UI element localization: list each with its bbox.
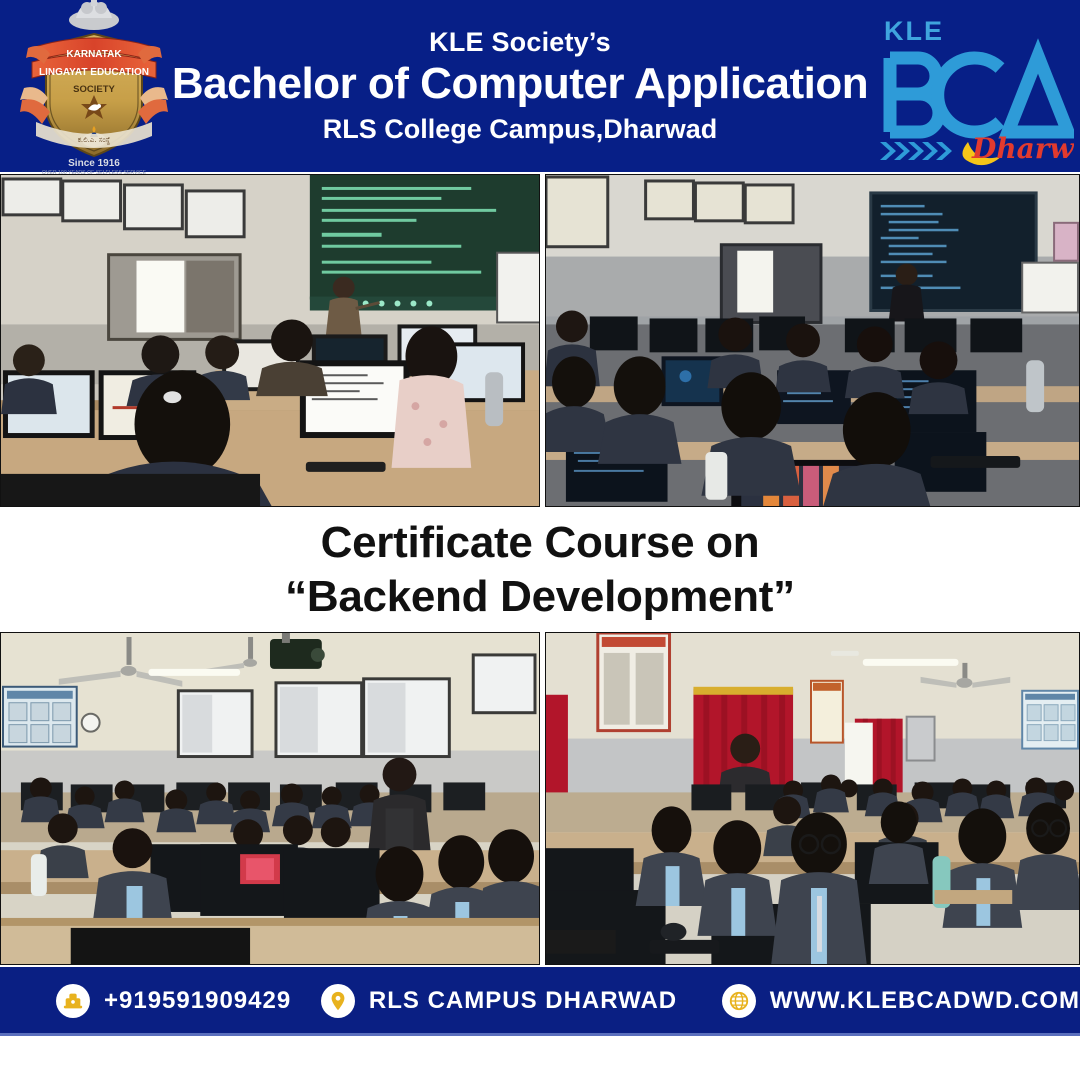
photo-bottom-left <box>0 632 540 965</box>
footer-website-item[interactable]: WWW.KLEBCADWD.COM <box>722 984 1080 1018</box>
photo-row-top <box>0 174 1080 507</box>
photo-bottom-right <box>545 632 1080 965</box>
photo-row-bottom <box>0 632 1080 965</box>
kle-bca-dharwad-logo: KLE <box>868 6 1074 166</box>
bca-dharwad-script: Dharwad <box>971 132 1074 165</box>
footer-phone-label: +919591909429 <box>104 987 291 1015</box>
map-pin-icon <box>321 984 355 1018</box>
crest-ring-mid: LINGAYAT EDUCATION <box>39 67 149 78</box>
photo-top-right <box>545 174 1080 507</box>
program-title: Bachelor of Computer Application <box>172 60 868 108</box>
course-title-line2: “Backend Development” <box>285 570 795 624</box>
footer-contact-list: +919591909429 RLS CAMPUS DHARWAD <box>0 984 1080 1018</box>
footer-location-label: RLS CAMPUS DHARWAD <box>369 987 677 1015</box>
poster-header: KARNATAK LINGAYAT EDUCATION SOCIETY <box>0 0 1080 172</box>
header-title-block: KLE Society’s Bachelor of Computer Appli… <box>180 0 860 172</box>
bca-kle-text: KLE <box>884 16 944 46</box>
poster-footer: +919591909429 RLS CAMPUS DHARWAD <box>0 967 1080 1034</box>
course-title-line1: Certificate Course on <box>321 516 760 570</box>
course-title-band: Certificate Course on “Backend Developme… <box>0 507 1080 632</box>
society-line: KLE Society’s <box>429 27 611 58</box>
crest-ring-top: KARNATAK <box>66 49 122 60</box>
footer-phone-item[interactable]: +919591909429 <box>56 984 291 1018</box>
footer-location-item[interactable]: RLS CAMPUS DHARWAD <box>321 984 677 1018</box>
crest-ring-low: SOCIETY <box>73 84 115 95</box>
poster-root: KARNATAK LINGAYAT EDUCATION SOCIETY <box>0 0 1080 1080</box>
crest-since: Since 1916 <box>68 158 120 169</box>
kle-society-crest: KARNATAK LINGAYAT EDUCATION SOCIETY <box>14 0 174 174</box>
bottom-white-margin <box>0 1036 1080 1080</box>
footer-website-label: WWW.KLEBCADWD.COM <box>770 987 1080 1015</box>
campus-line: RLS College Campus,Dharwad <box>323 113 718 145</box>
photo-top-left <box>0 174 540 507</box>
globe-icon <box>722 984 756 1018</box>
telephone-icon <box>56 984 90 1018</box>
